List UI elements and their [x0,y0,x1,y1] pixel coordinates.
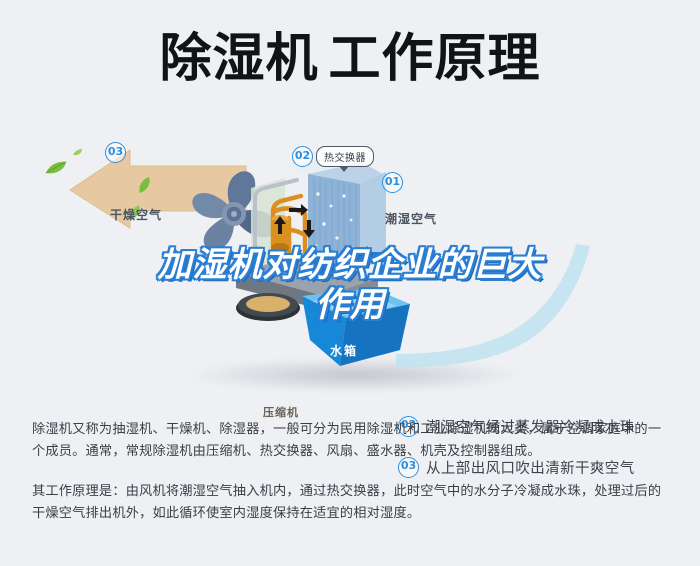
water-tank-label: 水箱 [330,342,358,359]
body-paragraph-2: 其工作原理是：由风机将潮湿空气抽入机内，通过热交换器，此时空气中的水分子冷凝成水… [32,480,672,524]
badge-01-humid-air: 01 [382,172,403,193]
body-copy: 除湿机又称为抽湿机、干燥机、除湿器，一般可分为民用除湿机和工业除湿机两大类，属于… [32,418,672,524]
humid-air-swoosh-icon [392,242,602,372]
leaf-icon [44,160,68,176]
page-title-part1: 除湿机 [159,30,318,88]
leaf-icon [137,176,151,194]
body-paragraph-1: 除湿机又称为抽湿机、干燥机、除湿器，一般可分为民用除湿机和工业除湿机两大类，属于… [32,418,672,462]
badge-03-dry-air: 03 [105,142,126,163]
page-title: 除湿机工作原理 [0,28,700,90]
poster-root: 除湿机工作原理 [0,0,700,566]
heat-exchanger-callout: 热交换器 [316,146,374,167]
dry-air-label: 干燥空气 [110,206,162,223]
page-title-part2: 工作原理 [329,30,541,88]
dehumidifier-diagram: 水箱 压缩机 03 干燥空气 02 热交换器 01 潮湿空气 02 潮湿空气经过… [0,120,700,410]
humid-air-label: 潮湿空气 [385,210,437,227]
badge-02-heat-exchanger: 02 [292,146,313,167]
leaf-icon [72,148,83,157]
